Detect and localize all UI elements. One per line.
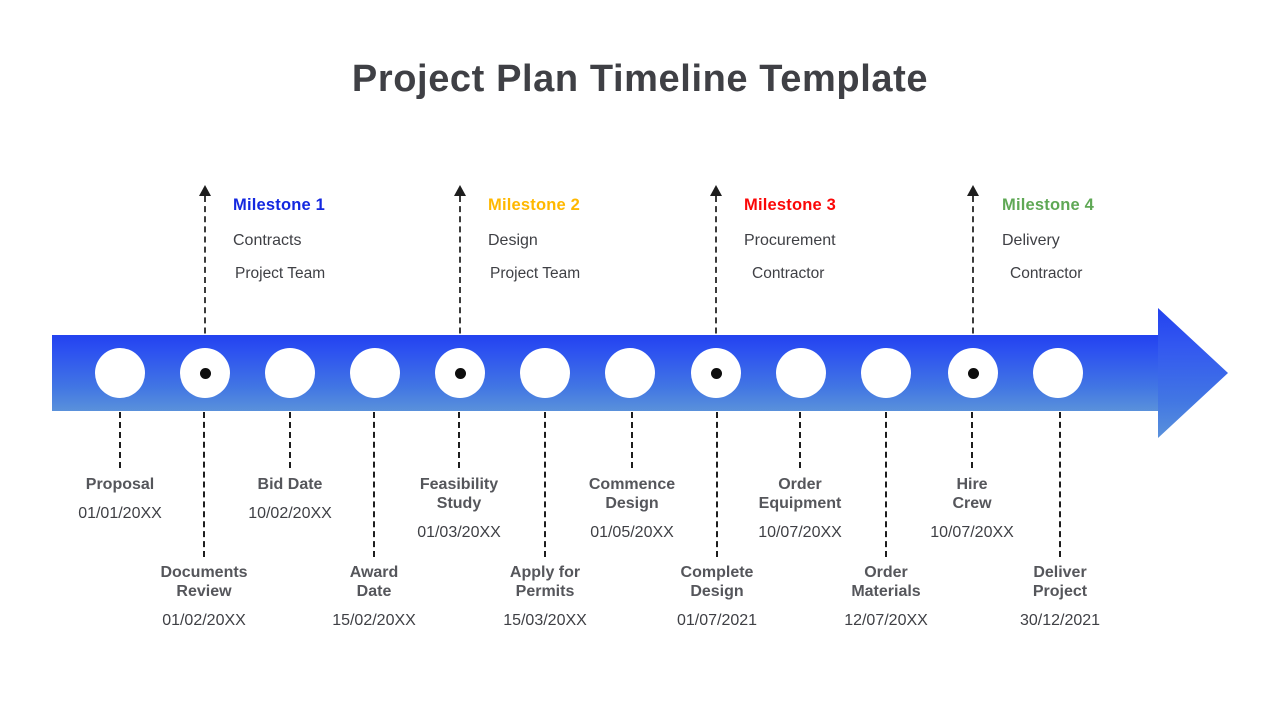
- task-name-line: Documents: [109, 563, 299, 582]
- task-date: 01/02/20XX: [109, 612, 299, 630]
- milestone-owner: Contractor: [1002, 265, 1094, 283]
- timeline-node-circle[interactable]: [520, 348, 570, 398]
- timeline-node-circle[interactable]: [776, 348, 826, 398]
- task-label-group[interactable]: DocumentsReview01/02/20XX: [109, 563, 299, 630]
- milestone-block-3[interactable]: Milestone 3ProcurementContractor: [744, 196, 836, 283]
- task-date: 15/03/20XX: [450, 612, 640, 630]
- milestone-phase: Design: [488, 232, 580, 250]
- task-name-line: Deliver: [965, 563, 1155, 582]
- task-name-line: Award: [279, 563, 469, 582]
- task-name-line: Order: [791, 563, 981, 582]
- task-name-line: Materials: [791, 582, 981, 601]
- task-name-line: Project: [965, 582, 1155, 601]
- task-name-line: Review: [109, 582, 299, 601]
- task-name: Apply forPermits: [450, 563, 640, 601]
- task-label-group[interactable]: CommenceDesign01/05/20XX: [537, 475, 727, 542]
- milestone-owner: Contractor: [744, 265, 836, 283]
- milestone-arrow-up-icon: [967, 185, 979, 196]
- milestone-block-2[interactable]: Milestone 2DesignProject Team: [488, 196, 580, 283]
- task-name: OrderMaterials: [791, 563, 981, 601]
- task-date: 10/02/20XX: [195, 505, 385, 523]
- task-name: HireCrew: [877, 475, 1067, 513]
- milestone-owner: Project Team: [233, 265, 325, 283]
- task-label-group[interactable]: AwardDate15/02/20XX: [279, 563, 469, 630]
- task-date: 10/07/20XX: [877, 524, 1067, 542]
- timeline-node-circle[interactable]: [1033, 348, 1083, 398]
- task-name: DocumentsReview: [109, 563, 299, 601]
- task-name-line: Order: [705, 475, 895, 494]
- task-connector-line: [119, 412, 121, 468]
- milestone-marker-dot: [711, 368, 722, 379]
- task-date: 01/05/20XX: [537, 524, 727, 542]
- task-name-line: Design: [622, 582, 812, 601]
- task-connector-line: [1059, 412, 1061, 557]
- task-name: AwardDate: [279, 563, 469, 601]
- task-date: 12/07/20XX: [791, 612, 981, 630]
- task-date: 01/03/20XX: [364, 524, 554, 542]
- milestone-arrow-up-icon: [454, 185, 466, 196]
- task-name-line: Equipment: [705, 494, 895, 513]
- task-name: FeasibilityStudy: [364, 475, 554, 513]
- task-name: CommenceDesign: [537, 475, 727, 513]
- milestone-title: Milestone 2: [488, 196, 580, 215]
- task-date: 30/12/2021: [965, 612, 1155, 630]
- task-label-group[interactable]: FeasibilityStudy01/03/20XX: [364, 475, 554, 542]
- milestone-phase: Delivery: [1002, 232, 1094, 250]
- page-title: Project Plan Timeline Template: [0, 58, 1280, 101]
- milestone-phase: Procurement: [744, 232, 836, 250]
- milestone-title: Milestone 1: [233, 196, 325, 215]
- task-name-line: Feasibility: [364, 475, 554, 494]
- task-date: 10/07/20XX: [705, 524, 895, 542]
- task-name: CompleteDesign: [622, 563, 812, 601]
- task-name-line: Hire: [877, 475, 1067, 494]
- task-connector-line: [971, 412, 973, 468]
- task-connector-line: [799, 412, 801, 468]
- milestone-block-4[interactable]: Milestone 4DeliveryContractor: [1002, 196, 1094, 283]
- task-name-line: Crew: [877, 494, 1067, 513]
- task-name-line: Date: [279, 582, 469, 601]
- task-date: 01/07/2021: [622, 612, 812, 630]
- task-name: Proposal: [25, 475, 215, 494]
- milestone-title: Milestone 4: [1002, 196, 1094, 215]
- task-name-line: Study: [364, 494, 554, 513]
- task-label-group[interactable]: CompleteDesign01/07/2021: [622, 563, 812, 630]
- timeline-node-circle[interactable]: [95, 348, 145, 398]
- task-name: DeliverProject: [965, 563, 1155, 601]
- task-label-group[interactable]: HireCrew10/07/20XX: [877, 475, 1067, 542]
- timeline-node-circle[interactable]: [605, 348, 655, 398]
- task-date: 15/02/20XX: [279, 612, 469, 630]
- milestone-marker-dot: [968, 368, 979, 379]
- task-label-group[interactable]: Apply forPermits15/03/20XX: [450, 563, 640, 630]
- task-name: Bid Date: [195, 475, 385, 494]
- task-label-group[interactable]: DeliverProject30/12/2021: [965, 563, 1155, 630]
- timeline-node-circle[interactable]: [861, 348, 911, 398]
- task-label-group[interactable]: Proposal01/01/20XX: [25, 475, 215, 523]
- timeline-arrowhead-icon: [1158, 308, 1228, 438]
- task-connector-line: [458, 412, 460, 468]
- timeline-slide: Project Plan Timeline Template Milestone…: [0, 0, 1280, 720]
- task-name-line: Apply for: [450, 563, 640, 582]
- milestone-title: Milestone 3: [744, 196, 836, 215]
- task-name-line: Permits: [450, 582, 640, 601]
- task-connector-line: [289, 412, 291, 468]
- task-name-line: Complete: [622, 563, 812, 582]
- task-name-line: Commence: [537, 475, 727, 494]
- milestone-owner: Project Team: [488, 265, 580, 283]
- milestone-arrow-up-icon: [199, 185, 211, 196]
- task-label-group[interactable]: Bid Date10/02/20XX: [195, 475, 385, 523]
- milestone-block-1[interactable]: Milestone 1ContractsProject Team: [233, 196, 325, 283]
- milestone-arrow-up-icon: [710, 185, 722, 196]
- milestone-phase: Contracts: [233, 232, 325, 250]
- task-name-line: Design: [537, 494, 727, 513]
- timeline-node-circle[interactable]: [265, 348, 315, 398]
- task-label-group[interactable]: OrderMaterials12/07/20XX: [791, 563, 981, 630]
- task-label-group[interactable]: OrderEquipment10/07/20XX: [705, 475, 895, 542]
- milestone-marker-dot: [455, 368, 466, 379]
- task-connector-line: [631, 412, 633, 468]
- task-name: OrderEquipment: [705, 475, 895, 513]
- task-date: 01/01/20XX: [25, 505, 215, 523]
- milestone-marker-dot: [200, 368, 211, 379]
- timeline-node-circle[interactable]: [350, 348, 400, 398]
